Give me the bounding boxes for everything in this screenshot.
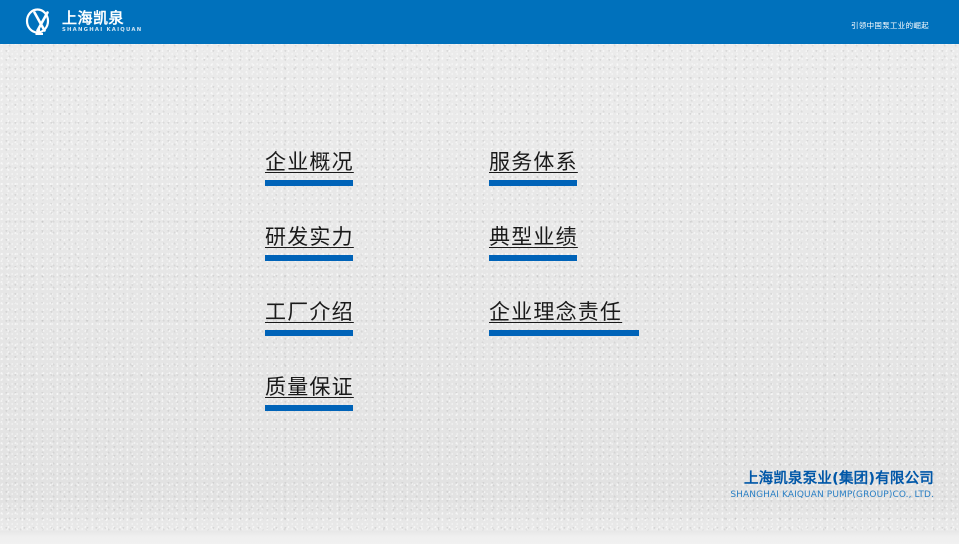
menu-item-typical-projects[interactable]: 典型业绩 — [489, 223, 639, 261]
menu-item-factory-intro[interactable]: 工厂介绍 — [265, 298, 354, 336]
footer-company-en: SHANGHAI KAIQUAN PUMP(GROUP)CO., LTD. — [730, 489, 934, 502]
menu-item-accent-bar — [265, 405, 353, 411]
menu-item-service-system[interactable]: 服务体系 — [489, 148, 639, 186]
menu-item-label: 服务体系 — [489, 148, 578, 176]
menu-item-label: 典型业绩 — [489, 223, 578, 251]
menu-item-accent-bar — [265, 180, 353, 186]
menu-item-philosophy-responsibility[interactable]: 企业理念责任 — [489, 298, 639, 336]
logo-brand-en: SHANGHAI KAIQUAN — [62, 26, 142, 34]
header-band: 上海凯泉 SHANGHAI KAIQUAN 引领中国泵工业的崛起 — [0, 0, 959, 44]
agenda-column-left: 企业概况 研发实力 工厂介绍 质量保证 — [265, 148, 354, 411]
menu-item-label: 质量保证 — [265, 373, 354, 401]
logo-brand-cn: 上海凯泉 — [62, 10, 141, 26]
kaiquan-kq-monogram-icon — [25, 8, 55, 36]
menu-item-label: 工厂介绍 — [265, 298, 354, 326]
menu-item-label: 企业理念责任 — [489, 298, 622, 326]
menu-item-company-overview[interactable]: 企业概况 — [265, 148, 354, 186]
menu-item-rnd-strength[interactable]: 研发实力 — [265, 223, 354, 261]
menu-item-label: 研发实力 — [265, 223, 354, 251]
footer-company-cn: 上海凯泉泵业(集团)有限公司 — [730, 470, 934, 489]
agenda-column-right: 服务体系 典型业绩 企业理念责任 — [489, 148, 639, 336]
bottom-strip — [0, 531, 959, 544]
logo-wordmark: 上海凯泉 SHANGHAI KAIQUAN — [62, 10, 141, 34]
footer-company-brand: 上海凯泉泵业(集团)有限公司 SHANGHAI KAIQUAN PUMP(GRO… — [730, 470, 934, 502]
menu-item-accent-bar — [489, 180, 577, 186]
menu-item-accent-bar — [265, 255, 353, 261]
header-slogan: 引领中国泵工业的崛起 — [851, 21, 929, 31]
menu-item-accent-bar — [489, 330, 639, 336]
company-logo[interactable]: 上海凯泉 SHANGHAI KAIQUAN — [25, 7, 141, 37]
menu-item-label: 企业概况 — [265, 148, 354, 176]
slide-canvas: 上海凯泉 SHANGHAI KAIQUAN 引领中国泵工业的崛起 企业概况 研发… — [0, 0, 959, 544]
menu-item-accent-bar — [489, 255, 577, 261]
menu-item-quality-assurance[interactable]: 质量保证 — [265, 373, 354, 411]
menu-item-accent-bar — [265, 330, 353, 336]
